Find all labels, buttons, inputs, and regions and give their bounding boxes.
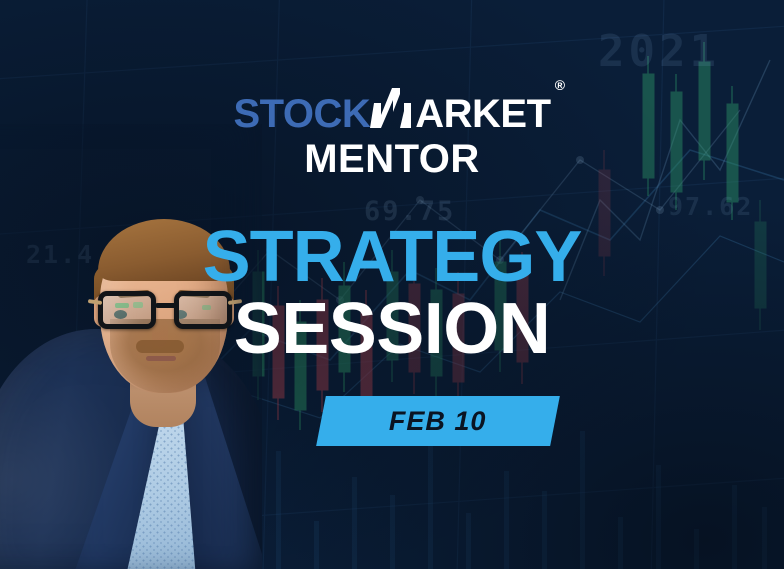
headline-block: STRATEGY SESSION <box>0 224 784 363</box>
headline-title: STRATEGY <box>0 224 784 292</box>
headline-subtitle: SESSION <box>0 296 784 364</box>
registered-trademark-icon: ® <box>555 78 565 92</box>
brand-logo-line2: MENTOR <box>0 139 784 179</box>
brand-word-market: ARKET® <box>370 88 550 135</box>
date-banner-label: FEB 10 <box>389 406 487 437</box>
brand-logo-line1: STOCKARKET® <box>233 88 550 135</box>
date-banner: FEB 10 <box>316 396 560 446</box>
brand-logo: STOCKARKET® MENTOR <box>0 88 784 179</box>
market-m-chart-icon <box>370 88 416 135</box>
promo-thumbnail: 2021 69.75 97.62 21.4 <box>0 0 784 569</box>
brand-word-arket: ARKET <box>415 92 550 136</box>
brand-word-stock: STOCK <box>233 92 370 136</box>
